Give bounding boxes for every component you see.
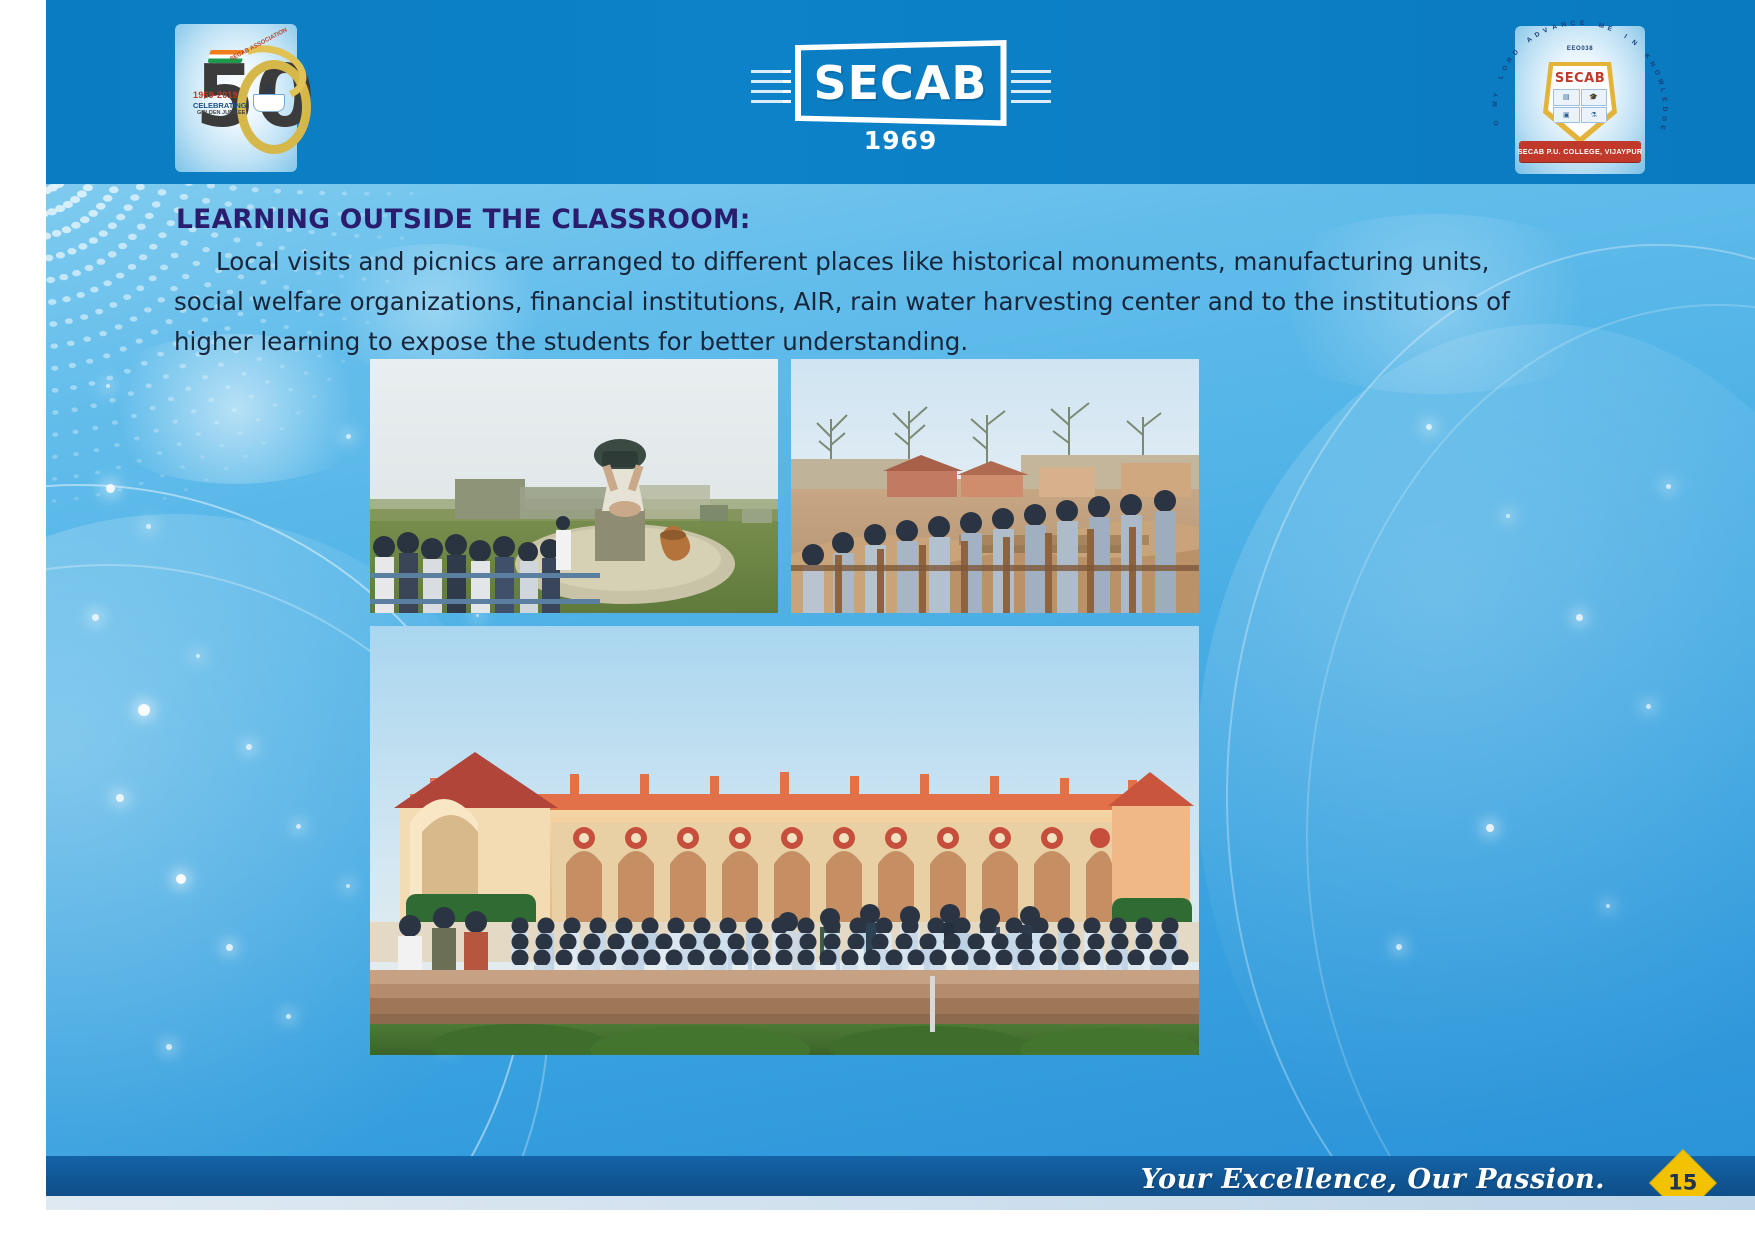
crest-ribbon-text: SECAB P.U. COLLEGE, VIJAYPUR bbox=[1518, 147, 1643, 156]
slide-body: LEARNING OUTSIDE THE CLASSROOM: Local vi… bbox=[46, 184, 1755, 1156]
swoosh-decoration-4 bbox=[1306, 304, 1755, 1156]
paragraph-line-2: social welfare organizations, financial … bbox=[174, 282, 1406, 322]
shield-icon: SECAB ▤ 🎓 ▣ ⚗ bbox=[1543, 62, 1617, 144]
page-number: 15 bbox=[1668, 1171, 1697, 1195]
graduation-cap-icon: 🎓 bbox=[1581, 89, 1608, 106]
glass-sphere-decoration-right bbox=[1196, 324, 1755, 1156]
crest-shield-title: SECAB bbox=[1543, 71, 1617, 86]
photo-heritage-site-visit bbox=[791, 359, 1199, 613]
banner-shape: SECAB bbox=[795, 40, 1007, 126]
anniversary-years: 1969-2019 bbox=[193, 90, 238, 100]
swoosh-decoration-3 bbox=[1226, 244, 1755, 1156]
anniversary-celebrating: CELEBRATING bbox=[193, 101, 247, 110]
anniversary-golden-jubilee: GOLDEN JUBILEE bbox=[197, 110, 245, 116]
left-page-margin bbox=[0, 0, 46, 1240]
50-years-anniversary-logo: 50 SECAB ASSOCIATION 1969-2019 CELEBRATI… bbox=[175, 24, 297, 172]
footer-tagline: Your Excellence, Our Passion. bbox=[1141, 1164, 1605, 1195]
footer-bottom-strip bbox=[46, 1196, 1755, 1210]
open-book-icon bbox=[253, 94, 285, 112]
photo-sculpture-visit bbox=[370, 359, 778, 613]
secab-wordmark: SECAB bbox=[814, 56, 988, 110]
computer-icon: ▣ bbox=[1553, 107, 1580, 124]
secab-banner-logo: SECAB 1969 bbox=[751, 28, 1051, 168]
bottom-page-margin bbox=[0, 1210, 1755, 1240]
microscope-icon: ⚗ bbox=[1581, 107, 1608, 124]
page-title: LEARNING OUTSIDE THE CLASSROOM: bbox=[176, 204, 751, 235]
crest-ribbon: SECAB P.U. COLLEGE, VIJAYPUR bbox=[1519, 141, 1641, 162]
paragraph-line-1: Local visits and picnics are arranged to… bbox=[174, 242, 1406, 282]
paragraph-line-3: higher learning to expose the students f… bbox=[174, 322, 1406, 362]
book-icon: ▤ bbox=[1553, 89, 1580, 106]
body-paragraph: Local visits and picnics are arranged to… bbox=[174, 242, 1406, 362]
secab-pu-college-crest: EEO038 O MY LORD ADVANCE ME IN KNOWLEDGE… bbox=[1515, 26, 1645, 174]
presentation-slide: 50 SECAB ASSOCIATION 1969-2019 CELEBRATI… bbox=[46, 0, 1755, 1210]
photo-group-at-palace bbox=[370, 626, 1199, 1055]
founding-year: 1969 bbox=[751, 126, 1051, 155]
slide-header: 50 SECAB ASSOCIATION 1969-2019 CELEBRATI… bbox=[46, 0, 1755, 184]
